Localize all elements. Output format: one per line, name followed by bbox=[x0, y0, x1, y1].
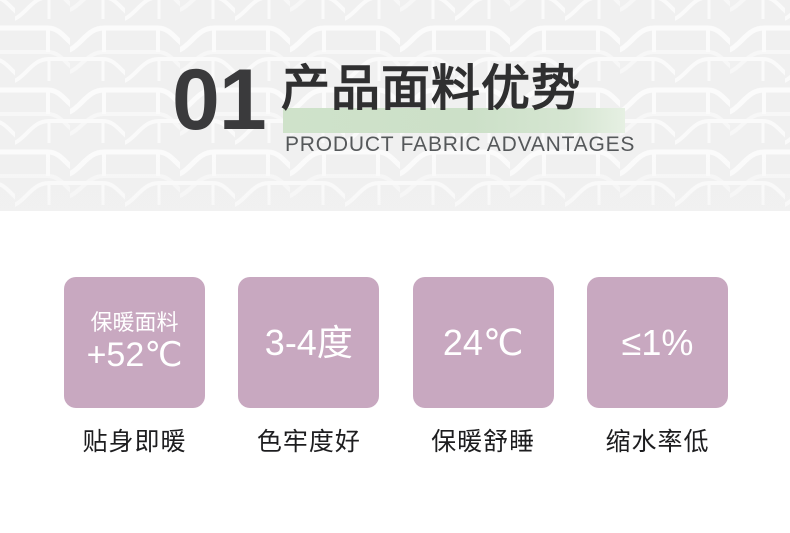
feature-box-line2: +52℃ bbox=[87, 336, 183, 375]
feature-list: 保暖面料 +52℃ 贴身即暖 3-4度 色牢度好 24℃ 保暖舒睡 ≤1% 缩水… bbox=[64, 277, 728, 455]
feature-box-line1: 保暖面料 bbox=[90, 310, 178, 335]
feature-box-line2: 3-4度 bbox=[265, 322, 353, 363]
feature-item: 3-4度 色牢度好 bbox=[238, 277, 379, 455]
feature-item: 24℃ 保暖舒睡 bbox=[413, 277, 554, 455]
section-title-en: PRODUCT FABRIC ADVANTAGES bbox=[285, 134, 635, 155]
feature-box: 保暖面料 +52℃ bbox=[64, 277, 205, 408]
feature-label: 缩水率低 bbox=[605, 430, 709, 455]
section-number: 01 bbox=[172, 57, 266, 143]
promo-banner-page: 01 产品面料优势 PRODUCT FABRIC ADVANTAGES 保暖面料… bbox=[0, 0, 790, 533]
feature-label: 贴身即暖 bbox=[82, 430, 186, 455]
feature-box-line2: 24℃ bbox=[443, 322, 523, 363]
feature-box: ≤1% bbox=[587, 277, 728, 408]
feature-box: 24℃ bbox=[413, 277, 554, 408]
feature-item: ≤1% 缩水率低 bbox=[587, 277, 728, 455]
feature-label: 色牢度好 bbox=[257, 430, 361, 455]
feature-box: 3-4度 bbox=[238, 277, 379, 408]
feature-item: 保暖面料 +52℃ 贴身即暖 bbox=[64, 277, 205, 455]
feature-box-line2: ≤1% bbox=[622, 322, 694, 363]
feature-label: 保暖舒睡 bbox=[431, 430, 535, 455]
section-title-cn: 产品面料优势 bbox=[281, 65, 581, 114]
title-block: 01 产品面料优势 PRODUCT FABRIC ADVANTAGES bbox=[0, 0, 790, 211]
